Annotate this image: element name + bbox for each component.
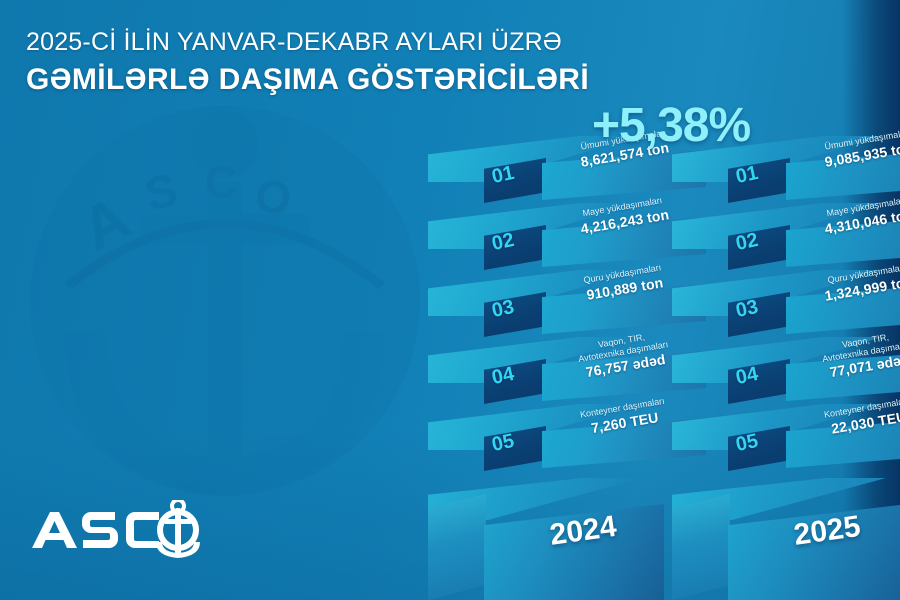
row-index: 01 <box>490 162 517 189</box>
row-index: 04 <box>490 363 517 390</box>
row-index: 04 <box>734 363 761 390</box>
row-index: 05 <box>490 430 517 457</box>
row-index: 03 <box>490 296 517 323</box>
base-side-face <box>428 494 486 600</box>
percent-change-badge: +5,38% <box>592 98 750 153</box>
row-2024-02: 02 Maye yükdaşımaları 4,216,243 ton <box>428 203 658 270</box>
row-2024-03: 03 Quru yükdaşımaları 910,889 ton <box>428 270 658 337</box>
row-2025-02: 02 Maye yükdaşımaları 4,310,046 ton <box>672 203 900 270</box>
row-2024-04: 04 Vaqon, TIR, Avtotexnika daşımaları 76… <box>428 337 658 404</box>
row-2025-03: 03 Quru yükdaşımaları 1,324,999 ton <box>672 270 900 337</box>
stack-2024: 01 Ümumi yükdaşımalar 8,621,574 ton 02 M… <box>428 136 658 471</box>
row-index: 01 <box>734 162 761 189</box>
row-2025-04: 04 Vaqon, TIR, Avtotexnika daşımaları 77… <box>672 337 900 404</box>
base-block-2024: 2024 <box>428 478 664 590</box>
row-index: 03 <box>734 296 761 323</box>
row-index: 05 <box>734 430 761 457</box>
base-side-face <box>672 494 730 600</box>
asco-logo <box>28 500 203 562</box>
stack-2025: 01 Ümumi yükdaşımalar 9,085,935 ton 02 M… <box>672 136 900 471</box>
row-index: 02 <box>490 229 517 256</box>
row-index: 02 <box>734 229 761 256</box>
row-2025-05: 05 Konteyner daşımaları 22,030 TEU <box>672 404 900 471</box>
row-2024-05: 05 Konteyner daşımaları 7,260 TEU <box>428 404 658 471</box>
base-block-2025: 2025 <box>672 478 900 590</box>
